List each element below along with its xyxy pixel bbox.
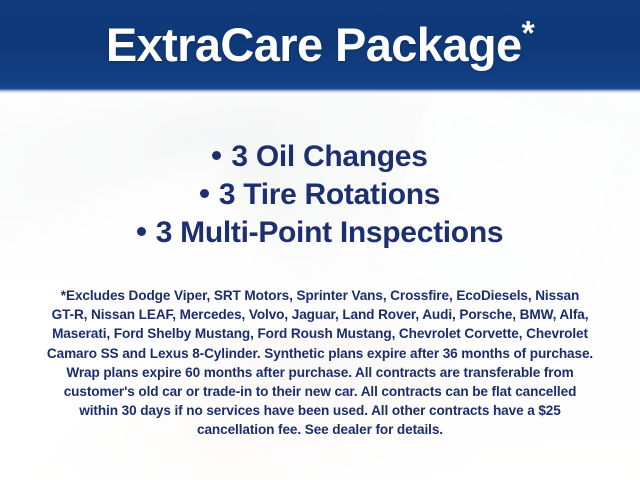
list-item: 3 Tire Rotations — [0, 176, 640, 214]
header-underline-divider — [0, 89, 640, 93]
disclaimer-line: Wrap plans expire 60 months after purcha… — [22, 363, 618, 382]
list-item: 3 Oil Changes — [0, 138, 640, 176]
disclaimer-line: within 30 days if no services have been … — [22, 401, 618, 420]
disclaimer-line: *Excludes Dodge Viper, SRT Motors, Sprin… — [22, 286, 618, 305]
page-title: ExtraCare Package* — [106, 21, 534, 68]
page-title-asterisk: * — [522, 14, 535, 52]
disclaimer-line: Camaro SS and Lexus 8-Cylinder. Syntheti… — [22, 344, 618, 363]
disclaimer-block: *Excludes Dodge Viper, SRT Motors, Sprin… — [22, 286, 618, 440]
bullet-dot-icon — [137, 227, 146, 236]
disclaimer-line: customer's old car or trade-in to their … — [22, 382, 618, 401]
disclaimer-line: GT-R, Nissan LEAF, Mercedes, Volvo, Jagu… — [22, 305, 618, 324]
list-item: 3 Multi-Point Inspections — [0, 214, 640, 252]
disclaimer-line: cancellation fee. See dealer for details… — [22, 420, 618, 439]
bullet-dot-icon — [200, 189, 209, 198]
page-title-text: ExtraCare Package — [106, 18, 522, 71]
extracare-package-promo-card: ExtraCare Package* 3 Oil Changes 3 Tire … — [0, 0, 640, 480]
disclaimer-line: Maserati, Ford Shelby Mustang, Ford Rous… — [22, 324, 618, 343]
header-band: ExtraCare Package* — [0, 0, 640, 89]
benefit-label: 3 Multi-Point Inspections — [156, 216, 504, 249]
bullet-dot-icon — [212, 151, 221, 160]
benefit-label: 3 Tire Rotations — [219, 178, 440, 211]
benefit-label: 3 Oil Changes — [231, 140, 427, 173]
benefits-list: 3 Oil Changes 3 Tire Rotations 3 Multi-P… — [0, 138, 640, 252]
